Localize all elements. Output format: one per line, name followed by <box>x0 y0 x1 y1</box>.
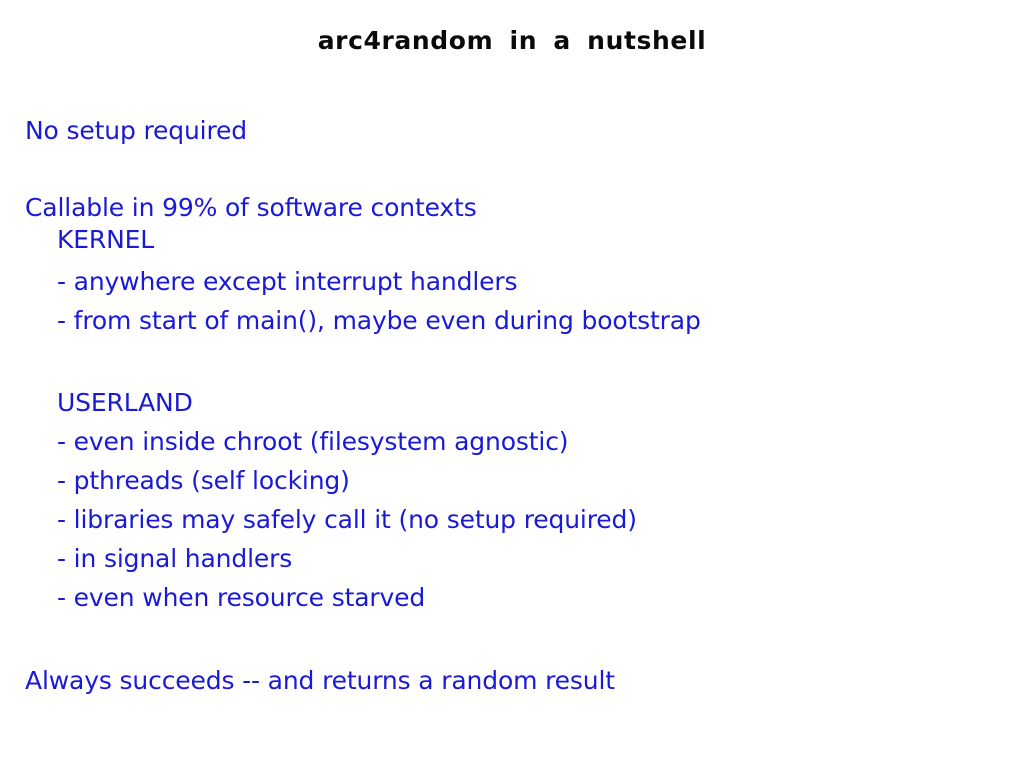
slide-line-userland-heading: USERLAND <box>57 387 193 419</box>
slide-line-userland-bullet-4: - in signal handlers <box>57 543 292 575</box>
slide-line-userland-bullet-5: - even when resource starved <box>57 582 425 614</box>
slide-body: No setup requiredCallable in 99% of soft… <box>0 0 1024 768</box>
slide-line-kernel-heading: KERNEL <box>57 224 154 256</box>
slide-line-intro-no-setup: No setup required <box>25 115 247 147</box>
slide-line-kernel-bullet-2: - from start of main(), maybe even durin… <box>57 305 701 337</box>
presentation-slide: arc4random in a nutshell No setup requir… <box>0 0 1024 768</box>
slide-line-userland-bullet-1: - even inside chroot (filesystem agnosti… <box>57 426 568 458</box>
slide-line-kernel-bullet-1: - anywhere except interrupt handlers <box>57 266 517 298</box>
slide-line-userland-bullet-3: - libraries may safely call it (no setup… <box>57 504 637 536</box>
slide-line-outro-always-succeeds: Always succeeds -- and returns a random … <box>25 665 615 697</box>
slide-line-userland-bullet-2: - pthreads (self locking) <box>57 465 350 497</box>
slide-line-intro-callable: Callable in 99% of software contexts <box>25 192 477 224</box>
